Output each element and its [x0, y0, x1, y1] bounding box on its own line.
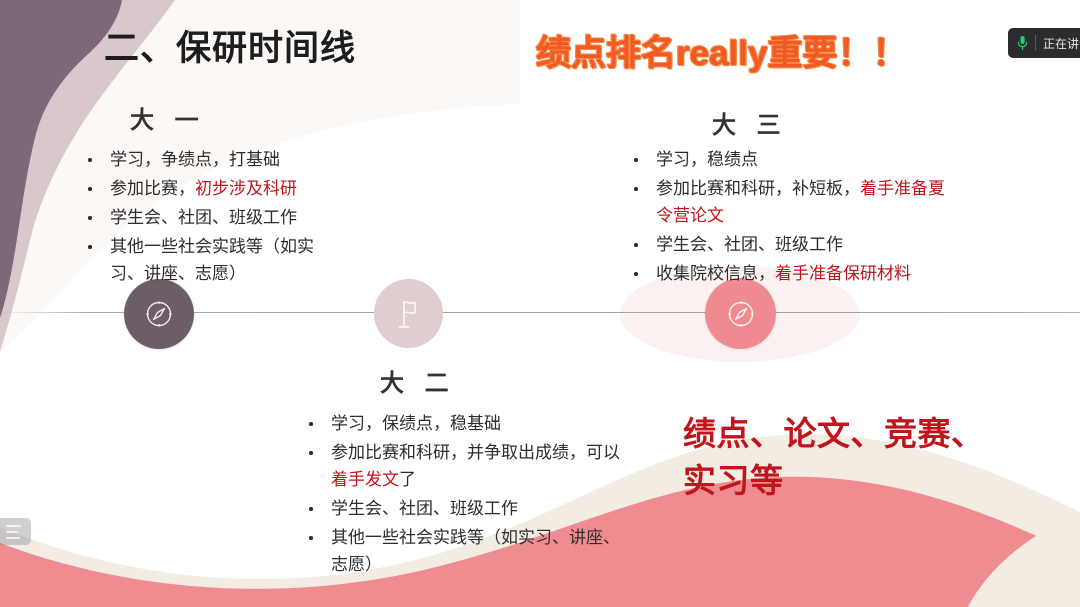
bullet-list-junior: 学习，稳绩点参加比赛和科研，补短板，着手准备夏令营论文学生会、社团、班级工作收集… — [630, 146, 960, 289]
bullet-highlight: 初步涉及科研 — [195, 179, 297, 198]
bullet-text: 收集院校信息， — [656, 264, 775, 283]
bullet-text: 其他一些社会实践等（如实习、讲座、志愿） — [331, 528, 620, 574]
bullet-text: 学习，保绩点，稳基础 — [331, 414, 501, 433]
compass-icon — [725, 298, 757, 330]
bullet-text: 其他一些社会实践等（如实习、讲座、志愿） — [110, 237, 314, 283]
bullet-item: 学习，保绩点，稳基础 — [305, 410, 635, 437]
timeline-node-sophomore[interactable] — [374, 279, 443, 348]
bullet-text: 了 — [399, 470, 416, 489]
bullet-item: 学生会、社团、班级工作 — [305, 495, 635, 522]
bullet-item: 其他一些社会实践等（如实习、讲座、志愿） — [305, 524, 635, 578]
bullet-item: 学生会、社团、班级工作 — [84, 204, 344, 231]
presentation-slide: 二、保研时间线 绩点排名really重要！！ 大 一 大 二 大 三 学习，争绩… — [0, 0, 1080, 607]
bullet-text: 参加比赛和科研，补短板， — [656, 179, 860, 198]
bullet-item: 学习，稳绩点 — [630, 146, 960, 173]
bullet-text: 学生会、社团、班级工作 — [656, 235, 843, 254]
section-label-freshman: 大 一 — [130, 100, 206, 135]
bullet-item: 参加比赛，初步涉及科研 — [84, 175, 344, 202]
bullet-item: 参加比赛和科研，并争取出成绩，可以着手发文了 — [305, 439, 635, 493]
chip-divider — [1035, 35, 1036, 51]
section-label-sophomore: 大 二 — [380, 363, 456, 398]
flag-icon — [394, 298, 424, 330]
right-edge-beige-sliver — [968, 512, 1080, 607]
bullet-highlight: 着手发文 — [331, 470, 399, 489]
bullet-text: 学生会、社团、班级工作 — [110, 208, 297, 227]
section-label-junior: 大 三 — [712, 105, 788, 140]
bullet-item: 收集院校信息，着手准备保研材料 — [630, 260, 960, 287]
bullet-item: 学生会、社团、班级工作 — [630, 231, 960, 258]
bullet-text: 参加比赛和科研，并争取出成绩，可以 — [331, 443, 620, 462]
bullet-item: 其他一些社会实践等（如实习、讲座、志愿） — [84, 233, 344, 287]
active-speaker-chip[interactable]: 正在讲话 — [1008, 28, 1080, 58]
side-panel-toggle[interactable] — [0, 518, 31, 545]
emphasis-banner: 绩点排名really重要！！ — [536, 25, 907, 76]
bullet-text: 学生会、社团、班级工作 — [331, 499, 518, 518]
bullet-item: 学习，争绩点，打基础 — [84, 146, 344, 173]
microphone-icon — [1017, 35, 1028, 51]
bullet-item: 参加比赛和科研，补短板，着手准备夏令营论文 — [630, 175, 960, 229]
list-panel-icon-line — [6, 531, 18, 533]
list-panel-icon-line — [6, 537, 20, 539]
bullet-list-sophomore: 学习，保绩点，稳基础参加比赛和科研，并争取出成绩，可以着手发文了学生会、社团、班… — [305, 410, 635, 580]
timeline-node-freshman[interactable] — [124, 279, 194, 349]
summary-callout: 绩点、论文、竞赛、实习等 — [683, 410, 1013, 504]
list-panel-icon-line — [6, 525, 21, 527]
compass-icon — [143, 298, 175, 330]
bullet-list-freshman: 学习，争绩点，打基础参加比赛，初步涉及科研学生会、社团、班级工作其他一些社会实践… — [84, 146, 344, 289]
bullet-highlight: 着手准备保研材料 — [775, 264, 911, 283]
bullet-text: 学习，稳绩点 — [656, 150, 758, 169]
bullet-text: 学习，争绩点，打基础 — [110, 150, 280, 169]
page-title: 二、保研时间线 — [104, 20, 356, 71]
active-speaker-label: 正在讲话 — [1043, 35, 1080, 52]
bullet-text: 参加比赛， — [110, 179, 195, 198]
